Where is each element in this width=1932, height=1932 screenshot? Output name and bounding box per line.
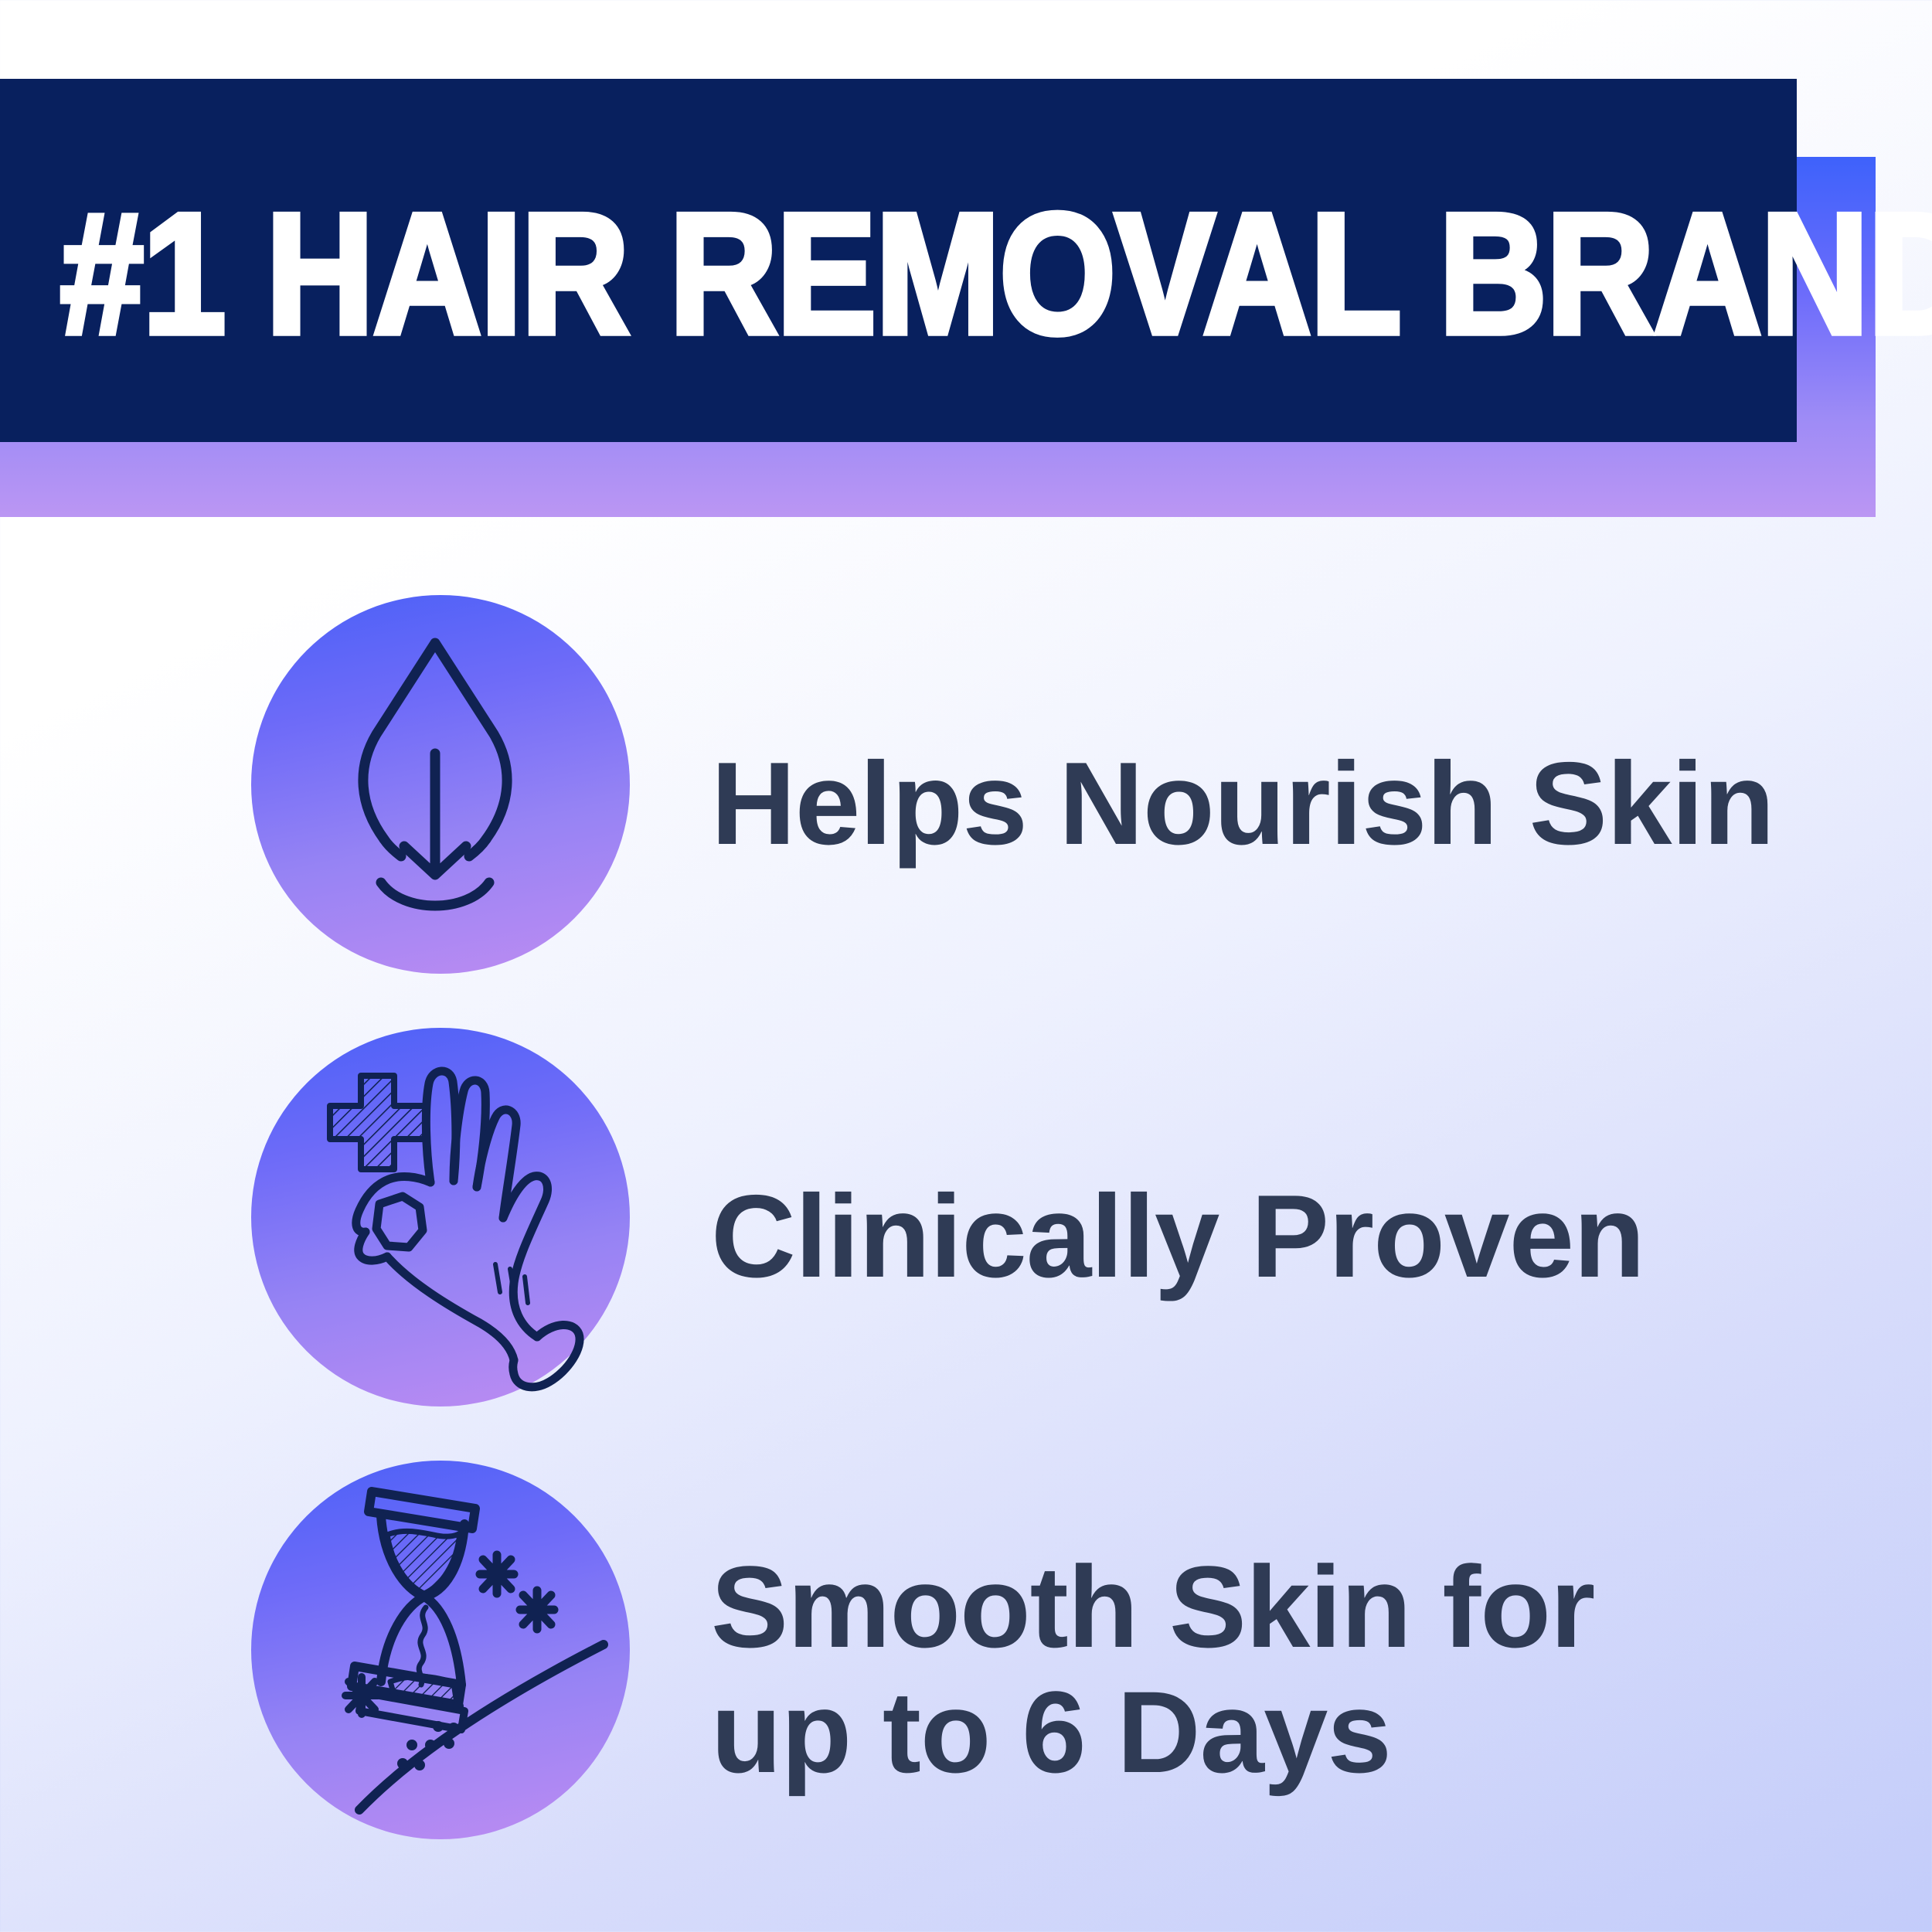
feature-row: Clinically Proven (0, 1020, 1932, 1453)
header-banner: #1 HAIR REMOVAL BRAND (0, 0, 1932, 541)
feature-row: Smooth Skin for up to 6 Days (0, 1453, 1932, 1886)
feature-label: Clinically Proven (711, 1172, 1645, 1301)
feature-label: Helps Nourish Skin (711, 739, 1774, 869)
promo-graphic: #1 HAIR REMOVAL BRAND Helps Nourish (0, 0, 1932, 1932)
feature-label: Smooth Skin for up to 6 Days (711, 1544, 1594, 1794)
ok-hand-medical-cross-icon (251, 1028, 630, 1406)
hourglass-smooth-skin-icon (251, 1461, 630, 1839)
droplet-arrow-icon (251, 595, 630, 974)
feature-list: Helps Nourish Skin (0, 541, 1932, 1932)
feature-row: Helps Nourish Skin (0, 587, 1932, 1020)
page-title: #1 HAIR REMOVAL BRAND (60, 188, 1932, 359)
